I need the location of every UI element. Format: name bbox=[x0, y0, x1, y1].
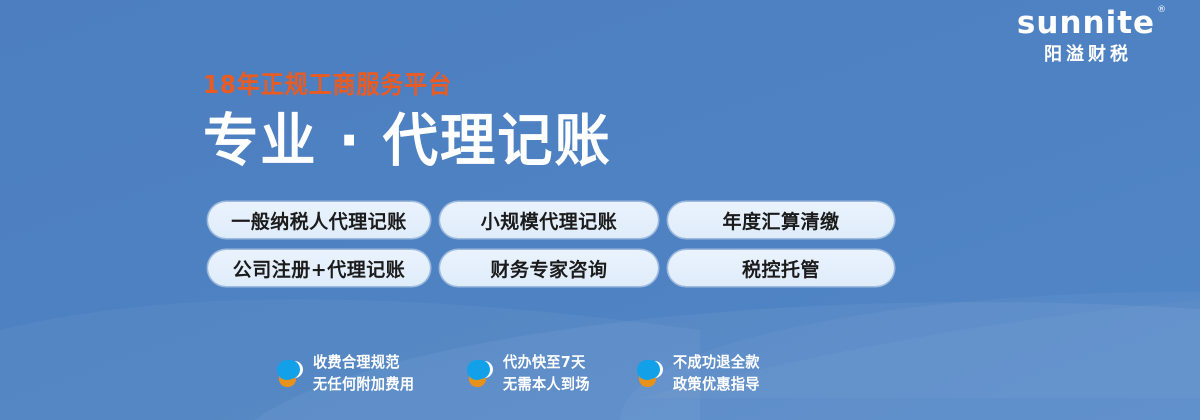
service-pill-finance-consulting[interactable]: 财务专家咨询 bbox=[440, 250, 658, 286]
feature-item: 不成功退全款 政策优惠指导 bbox=[636, 352, 816, 396]
eyebrow-text: 18年正规工商服务平台 bbox=[203, 72, 591, 97]
brand-logo: sunnite ® 阳溢财税 bbox=[998, 8, 1174, 64]
feature-line-1: 收费合理规范 bbox=[313, 352, 414, 374]
feature-text: 收费合理规范 无任何附加费用 bbox=[313, 352, 421, 396]
feature-line-2: 无需本人到场 bbox=[503, 374, 590, 396]
headline-block: 18年正规工商服务平台 专业 · 代理记账 bbox=[203, 72, 624, 170]
feature-line-2: 政策优惠指导 bbox=[673, 374, 760, 396]
feature-item: 收费合理规范 无任何附加费用 bbox=[276, 352, 466, 396]
feature-line-1: 代办快至7天 bbox=[503, 352, 590, 374]
eclipse-badge-icon bbox=[466, 359, 492, 389]
feature-strip: 收费合理规范 无任何附加费用 代办快至7天 无需本人到场 bbox=[276, 352, 816, 396]
logo-wordmark: sunnite ® bbox=[1017, 8, 1155, 39]
feature-text: 不成功退全款 政策优惠指导 bbox=[673, 352, 765, 396]
logo-chinese-name: 阳溢财税 bbox=[998, 46, 1174, 64]
feature-line-2: 无任何附加费用 bbox=[313, 374, 414, 396]
feature-text: 代办快至7天 无需本人到场 bbox=[503, 352, 595, 396]
eclipse-badge-icon bbox=[276, 359, 302, 389]
service-pill-small-scale[interactable]: 小规模代理记账 bbox=[440, 202, 658, 238]
service-pill-grid: 一般纳税人代理记账 小规模代理记账 年度汇算清缴 公司注册+代理记账 财务专家咨… bbox=[208, 202, 894, 286]
registered-trademark-icon: ® bbox=[1157, 6, 1166, 15]
page-title: 专业 · 代理记账 bbox=[203, 113, 612, 170]
service-pill-annual-settlement[interactable]: 年度汇算清缴 bbox=[668, 202, 894, 238]
feature-item: 代办快至7天 无需本人到场 bbox=[466, 352, 636, 396]
logo-wordmark-text: sunnite bbox=[1017, 5, 1155, 41]
service-pill-general-taxpayer[interactable]: 一般纳税人代理记账 bbox=[208, 202, 430, 238]
eclipse-badge-icon bbox=[636, 359, 662, 389]
promo-banner: sunnite ® 阳溢财税 18年正规工商服务平台 专业 · 代理记账 一般纳… bbox=[0, 0, 1200, 420]
service-pill-company-registration[interactable]: 公司注册+代理记账 bbox=[208, 250, 430, 286]
feature-line-1: 不成功退全款 bbox=[673, 352, 760, 374]
service-pill-tax-control-hosting[interactable]: 税控托管 bbox=[668, 250, 894, 286]
